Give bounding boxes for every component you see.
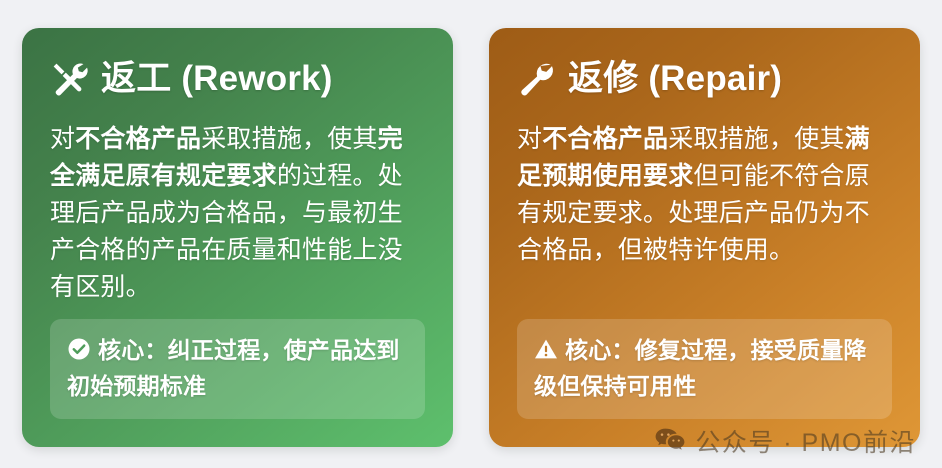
card-rework: 返工 (Rework) 对不合格产品采取措施，使其完全满足原有规定要求的过程。处… — [22, 28, 453, 447]
wrench-icon — [517, 60, 555, 98]
card-rework-title: 返工 (Rework) — [50, 58, 425, 99]
card-rework-core-text: 核心：纠正过程，使产品达到初始预期标准 — [67, 337, 400, 399]
card-repair: 返修 (Repair) 对不合格产品采取措施，使其满足预期使用要求但可能不符合原… — [489, 28, 920, 447]
card-repair-core-box: 核心：修复过程，接受质量降级但保持可用性 — [517, 319, 892, 419]
tools-icon — [50, 60, 88, 98]
body-segment-bold: 不合格产品 — [75, 125, 201, 153]
card-rework-body: 对不合格产品采取措施，使其完全满足原有规定要求的过程。处理后产品成为合格品，与最… — [50, 121, 425, 306]
body-segment: 对 — [517, 125, 542, 153]
body-segment: 采取措施，使其 — [668, 125, 844, 153]
comparison-cards-stage: 返工 (Rework) 对不合格产品采取措施，使其完全满足原有规定要求的过程。处… — [0, 0, 942, 468]
body-segment: 采取措施，使其 — [201, 125, 377, 153]
card-repair-core-text: 核心：修复过程，接受质量降级但保持可用性 — [534, 337, 867, 399]
card-repair-title: 返修 (Repair) — [517, 58, 892, 99]
card-repair-spacer — [517, 269, 892, 319]
body-segment-bold: 不合格产品 — [542, 125, 668, 153]
card-rework-spacer — [50, 306, 425, 319]
warning-triangle-icon — [534, 337, 558, 361]
check-circle-icon — [67, 337, 91, 361]
card-repair-body: 对不合格产品采取措施，使其满足预期使用要求但可能不符合原有规定要求。处理后产品仍… — [517, 121, 892, 269]
card-repair-title-text: 返修 (Repair) — [568, 58, 782, 99]
card-rework-title-text: 返工 (Rework) — [101, 58, 333, 99]
body-segment: 对 — [50, 125, 75, 153]
card-rework-core-box: 核心：纠正过程，使产品达到初始预期标准 — [50, 319, 425, 419]
